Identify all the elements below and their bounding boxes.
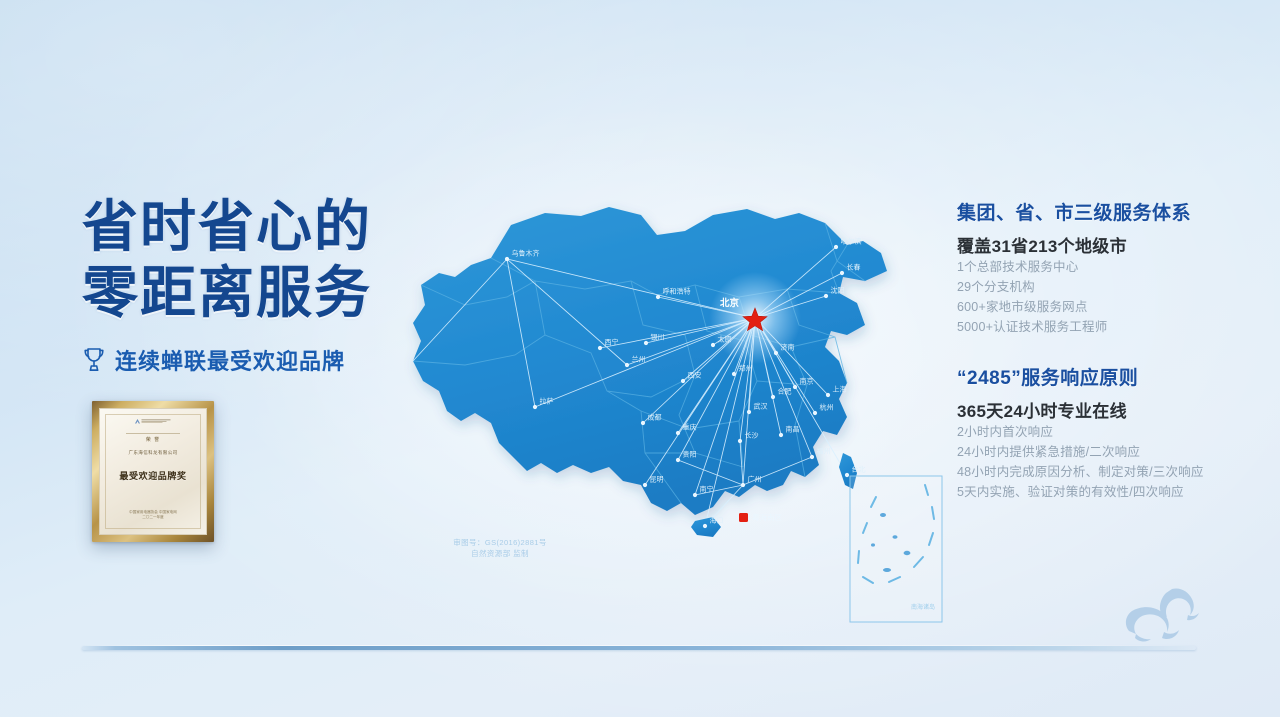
city-label: 拉萨 bbox=[540, 397, 554, 406]
city-label: 太原 bbox=[718, 335, 732, 344]
city-label: 乌鲁木齐 bbox=[512, 249, 540, 258]
city-dot bbox=[693, 493, 697, 497]
city-dot bbox=[824, 294, 828, 298]
city-dot bbox=[826, 393, 830, 397]
certificate-rule bbox=[126, 433, 180, 434]
headline-block: 省时省心的 零距离服务 连续蝉联最受欢迎品牌 bbox=[82, 196, 422, 376]
city-dot bbox=[643, 483, 647, 487]
china-map: 乌鲁木齐哈尔滨长春沈阳呼和浩特银川西宁太原济南兰州郑州西安南京合肥上海成都武汉杭… bbox=[395, 185, 955, 645]
guangdong-marker-label: 粤海南区 bbox=[752, 512, 782, 522]
trophy-icon bbox=[82, 347, 106, 373]
city-label: 西安 bbox=[688, 371, 702, 380]
headline-line-2: 零距离服务 bbox=[82, 262, 422, 324]
headline-subtitle: 连续蝉联最受欢迎品牌 bbox=[115, 344, 345, 376]
city-dot bbox=[810, 455, 814, 459]
city-dot bbox=[676, 431, 680, 435]
certificate-company: 广东海信科龙有限公司 bbox=[129, 450, 178, 456]
service-block-1-item: 1个总部技术服务中心 bbox=[957, 258, 1227, 277]
city-dot bbox=[793, 385, 797, 389]
city-label: 贵阳 bbox=[683, 450, 697, 459]
certificate-honor-label: 荣 誉 bbox=[146, 436, 160, 443]
city-dot bbox=[774, 351, 778, 355]
service-block-1-title: 集团、省、市三级服务体系 bbox=[957, 198, 1227, 225]
service-block-1-item: 29个分支机构 bbox=[957, 278, 1227, 297]
city-dot bbox=[703, 524, 707, 528]
city-label: 上海 bbox=[833, 385, 847, 394]
city-dot bbox=[533, 405, 537, 409]
inset-label: 南海诸岛 bbox=[911, 603, 935, 611]
certificate-footer-line-2: 二〇二一年度 bbox=[142, 515, 164, 519]
company-logo-icon bbox=[134, 418, 172, 425]
city-dot bbox=[840, 271, 844, 275]
city-label: 重庆 bbox=[683, 423, 697, 432]
service-block-2: “2485”服务响应原则 365天24小时专业在线 2小时内首次响应 24小时内… bbox=[957, 363, 1227, 502]
city-label: 南京 bbox=[800, 377, 814, 386]
city-label: 哈尔滨 bbox=[841, 237, 862, 246]
city-dot bbox=[771, 395, 775, 399]
city-dot bbox=[598, 346, 602, 350]
city-dot bbox=[779, 433, 783, 437]
city-label: 武汉 bbox=[754, 402, 768, 411]
city-label: 合肥 bbox=[778, 387, 792, 396]
map-approval-line-2: 自然资源部 监制 bbox=[415, 548, 585, 559]
service-block-1-subtitle: 覆盖31省213个地级市 bbox=[957, 232, 1227, 257]
city-dot bbox=[738, 439, 742, 443]
inset-border bbox=[850, 476, 942, 622]
city-label: 南昌 bbox=[786, 425, 800, 434]
city-dot bbox=[676, 458, 680, 462]
city-label: 济南 bbox=[781, 343, 795, 352]
city-label: 沈阳 bbox=[831, 286, 845, 295]
service-block-2-subtitle: 365天24小时专业在线 bbox=[957, 397, 1227, 422]
city-dot bbox=[741, 483, 745, 487]
certificate-inner: 荣 誉 广东海信科龙有限公司 最受欢迎品牌奖 中国家用电器协会 中国家电网 二〇… bbox=[99, 408, 207, 535]
city-label: 成都 bbox=[648, 413, 662, 422]
service-block-2-item: 48小时内完成原因分析、制定对策/三次响应 bbox=[957, 463, 1227, 482]
service-block-2-title: “2485”服务响应原则 bbox=[957, 363, 1227, 390]
city-dot bbox=[505, 257, 509, 261]
divider-line bbox=[82, 646, 1196, 650]
city-dot bbox=[656, 295, 660, 299]
city-label: 西宁 bbox=[605, 338, 619, 347]
city-dot bbox=[747, 410, 751, 414]
city-label: 呼和浩特 bbox=[663, 287, 691, 296]
beijing-hub-label: 北京 bbox=[720, 297, 740, 309]
city-dot bbox=[732, 372, 736, 376]
headline-subtitle-row: 连续蝉联最受欢迎品牌 bbox=[82, 344, 422, 376]
city-dot bbox=[813, 411, 817, 415]
city-dot bbox=[641, 421, 645, 425]
service-block-1-item: 600+家地市级服务网点 bbox=[957, 298, 1227, 317]
service-block-2-item: 24小时内提供紧急措施/二次响应 bbox=[957, 443, 1227, 462]
city-label: 兰州 bbox=[632, 355, 646, 364]
south-china-sea-inset: 南海诸岛 bbox=[850, 476, 942, 622]
city-dot bbox=[681, 379, 685, 383]
city-label: 郑州 bbox=[739, 365, 753, 373]
service-block-2-item: 2小时内首次响应 bbox=[957, 423, 1227, 442]
city-label: 南宁 bbox=[700, 485, 714, 494]
certificate-award-title: 最受欢迎品牌奖 bbox=[119, 469, 186, 482]
map-approval-line-1: 审图号：GS(2016)2881号 bbox=[415, 537, 585, 548]
city-label: 广州 bbox=[748, 475, 762, 484]
city-label: 长春 bbox=[847, 263, 861, 272]
certificate-footer: 中国家用电器协会 中国家电网 二〇二一年度 bbox=[129, 510, 177, 520]
city-label: 昆明 bbox=[650, 476, 664, 484]
city-dot bbox=[711, 343, 715, 347]
city-label: 长沙 bbox=[745, 431, 759, 440]
city-label: 台北 bbox=[852, 465, 866, 474]
city-label: 海口 bbox=[710, 516, 724, 525]
certificate-footer-line-1: 中国家用电器协会 中国家电网 bbox=[129, 510, 177, 514]
china-map-svg: 乌鲁木齐哈尔滨长春沈阳呼和浩特银川西宁太原济南兰州郑州西安南京合肥上海成都武汉杭… bbox=[395, 185, 955, 645]
guangdong-marker[interactable] bbox=[739, 513, 748, 522]
map-approval-note: 审图号：GS(2016)2881号 自然资源部 监制 bbox=[415, 537, 585, 559]
service-block-1-item: 5000+认证技术服务工程师 bbox=[957, 318, 1227, 337]
service-block-2-item: 5天内实施、验证对策的有效性/四次响应 bbox=[957, 483, 1227, 502]
city-dot bbox=[834, 245, 838, 249]
city-dot bbox=[845, 473, 849, 477]
city-label: 杭州 bbox=[820, 403, 834, 412]
city-dot bbox=[625, 363, 629, 367]
service-block-1: 集团、省、市三级服务体系 覆盖31省213个地级市 1个总部技术服务中心 29个… bbox=[957, 198, 1227, 337]
headline-line-1: 省时省心的 bbox=[82, 196, 422, 258]
city-label: 福州 bbox=[817, 447, 831, 456]
dolphins-icon bbox=[1122, 583, 1214, 645]
award-certificate: 荣 誉 广东海信科龙有限公司 最受欢迎品牌奖 中国家用电器协会 中国家电网 二〇… bbox=[92, 401, 214, 542]
city-dot bbox=[644, 341, 648, 345]
city-label: 银川 bbox=[651, 333, 665, 342]
